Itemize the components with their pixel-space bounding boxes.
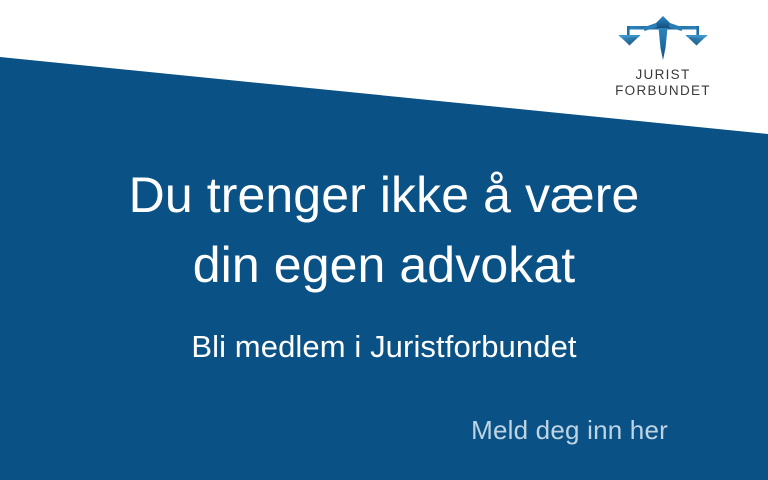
banner-content: Du trenger ikke å være din egen advokat … [0, 0, 768, 480]
signup-cta-link[interactable]: Meld deg inn her [471, 413, 668, 447]
headline-line-2: din egen advokat [0, 230, 768, 300]
headline: Du trenger ikke å være din egen advokat [0, 160, 768, 300]
subtitle: Bli medlem i Juristforbundet [0, 327, 768, 367]
advertisement-banner: JURIST FORBUNDET Du trenger ikke å være … [0, 0, 768, 480]
headline-line-1: Du trenger ikke å være [0, 160, 768, 230]
